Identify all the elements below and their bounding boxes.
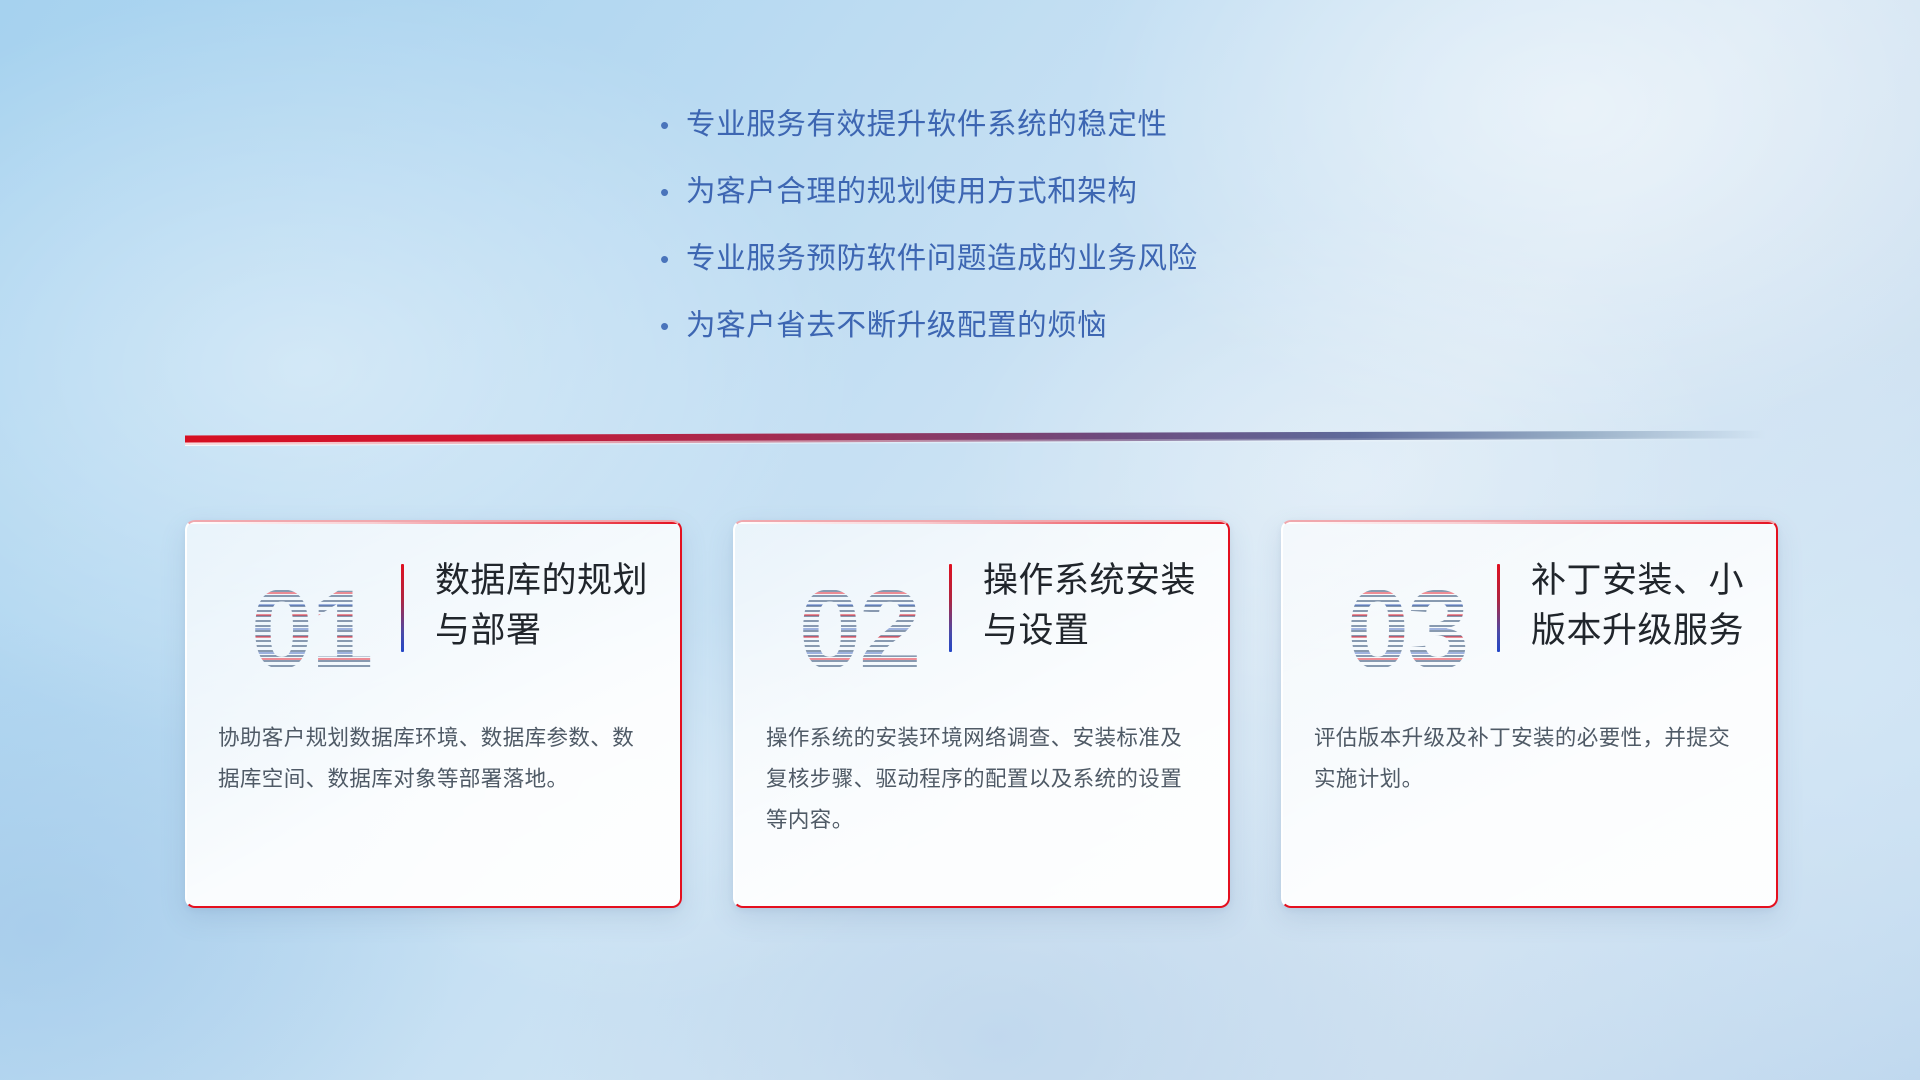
- bullet-text: 专业服务预防软件问题造成的业务风险: [686, 239, 1198, 279]
- bullet-text: 为客户合理的规划使用方式和架构: [686, 172, 1138, 212]
- card-header: 01 01 数据库的规划 与部署: [187, 522, 680, 692]
- card-body-text: 评估版本升级及补丁安装的必要性，并提交实施计划。: [1314, 718, 1748, 800]
- card-number-watermark: 01 01: [207, 544, 377, 674]
- card-title-line-2: 版本升级服务: [1531, 606, 1763, 656]
- bullet-text: 专业服务有效提升软件系统的稳定性: [686, 105, 1168, 145]
- service-card-group: 01 01 数据库的规划 与部署 协助客户规划数据库环境、数据库参数、数据库空间…: [0, 520, 1920, 940]
- card-number-watermark: 02 02: [755, 544, 925, 674]
- card-number-glyph-tint: 03: [1327, 570, 1487, 690]
- card-title-line-2: 与设置: [983, 606, 1215, 656]
- list-item: • 为客户合理的规划使用方式和架构: [660, 172, 1420, 212]
- card-body-text: 操作系统的安装环境网络调查、安装标准及复核步骤、驱动程序的配置以及系统的设置等内…: [766, 718, 1200, 841]
- service-card-03[interactable]: 03 03 补丁安装、小 版本升级服务 评估版本升级及补丁安装的必要性，并提交实…: [1281, 520, 1778, 908]
- section-divider: [185, 430, 1765, 446]
- card-number: 01 01: [231, 570, 391, 690]
- card-number: 02 02: [779, 570, 939, 690]
- list-item: • 专业服务有效提升软件系统的稳定性: [660, 105, 1420, 145]
- card-accent-bar: [1497, 564, 1500, 652]
- list-item: • 为客户省去不断升级配置的烦恼: [660, 306, 1420, 346]
- card-header: 03 03 补丁安装、小 版本升级服务: [1283, 522, 1776, 692]
- service-card-02[interactable]: 02 02 操作系统安装 与设置 操作系统的安装环境网络调查、安装标准及复核步骤…: [733, 520, 1230, 908]
- bullet-text: 为客户省去不断升级配置的烦恼: [686, 306, 1107, 346]
- card-number: 03 03: [1327, 570, 1487, 690]
- card-title: 数据库的规划 与部署: [435, 556, 667, 656]
- card-number-glyph-tint: 02: [779, 570, 939, 690]
- card-body-text: 协助客户规划数据库环境、数据库参数、数据库空间、数据库对象等部署落地。: [218, 718, 652, 800]
- card-title-line-1: 数据库的规划: [435, 556, 667, 606]
- card-number-glyph-tint: 01: [231, 570, 391, 690]
- benefits-bullet-list: • 专业服务有效提升软件系统的稳定性 • 为客户合理的规划使用方式和架构 • 专…: [660, 105, 1420, 373]
- card-header: 02 02 操作系统安装 与设置: [735, 522, 1228, 692]
- card-number-watermark: 03 03: [1303, 544, 1473, 674]
- card-accent-bar: [401, 564, 404, 652]
- card-title-line-1: 操作系统安装: [983, 556, 1215, 606]
- bullet-dot-icon: •: [660, 172, 686, 212]
- card-title-line-1: 补丁安装、小: [1531, 556, 1763, 606]
- card-title: 操作系统安装 与设置: [983, 556, 1215, 656]
- list-item: • 专业服务预防软件问题造成的业务风险: [660, 239, 1420, 279]
- bullet-dot-icon: •: [660, 105, 686, 145]
- card-accent-bar: [949, 564, 952, 652]
- card-title: 补丁安装、小 版本升级服务: [1531, 556, 1763, 656]
- bullet-dot-icon: •: [660, 239, 686, 279]
- card-title-line-2: 与部署: [435, 606, 667, 656]
- bullet-dot-icon: •: [660, 306, 686, 346]
- service-card-01[interactable]: 01 01 数据库的规划 与部署 协助客户规划数据库环境、数据库参数、数据库空间…: [185, 520, 682, 908]
